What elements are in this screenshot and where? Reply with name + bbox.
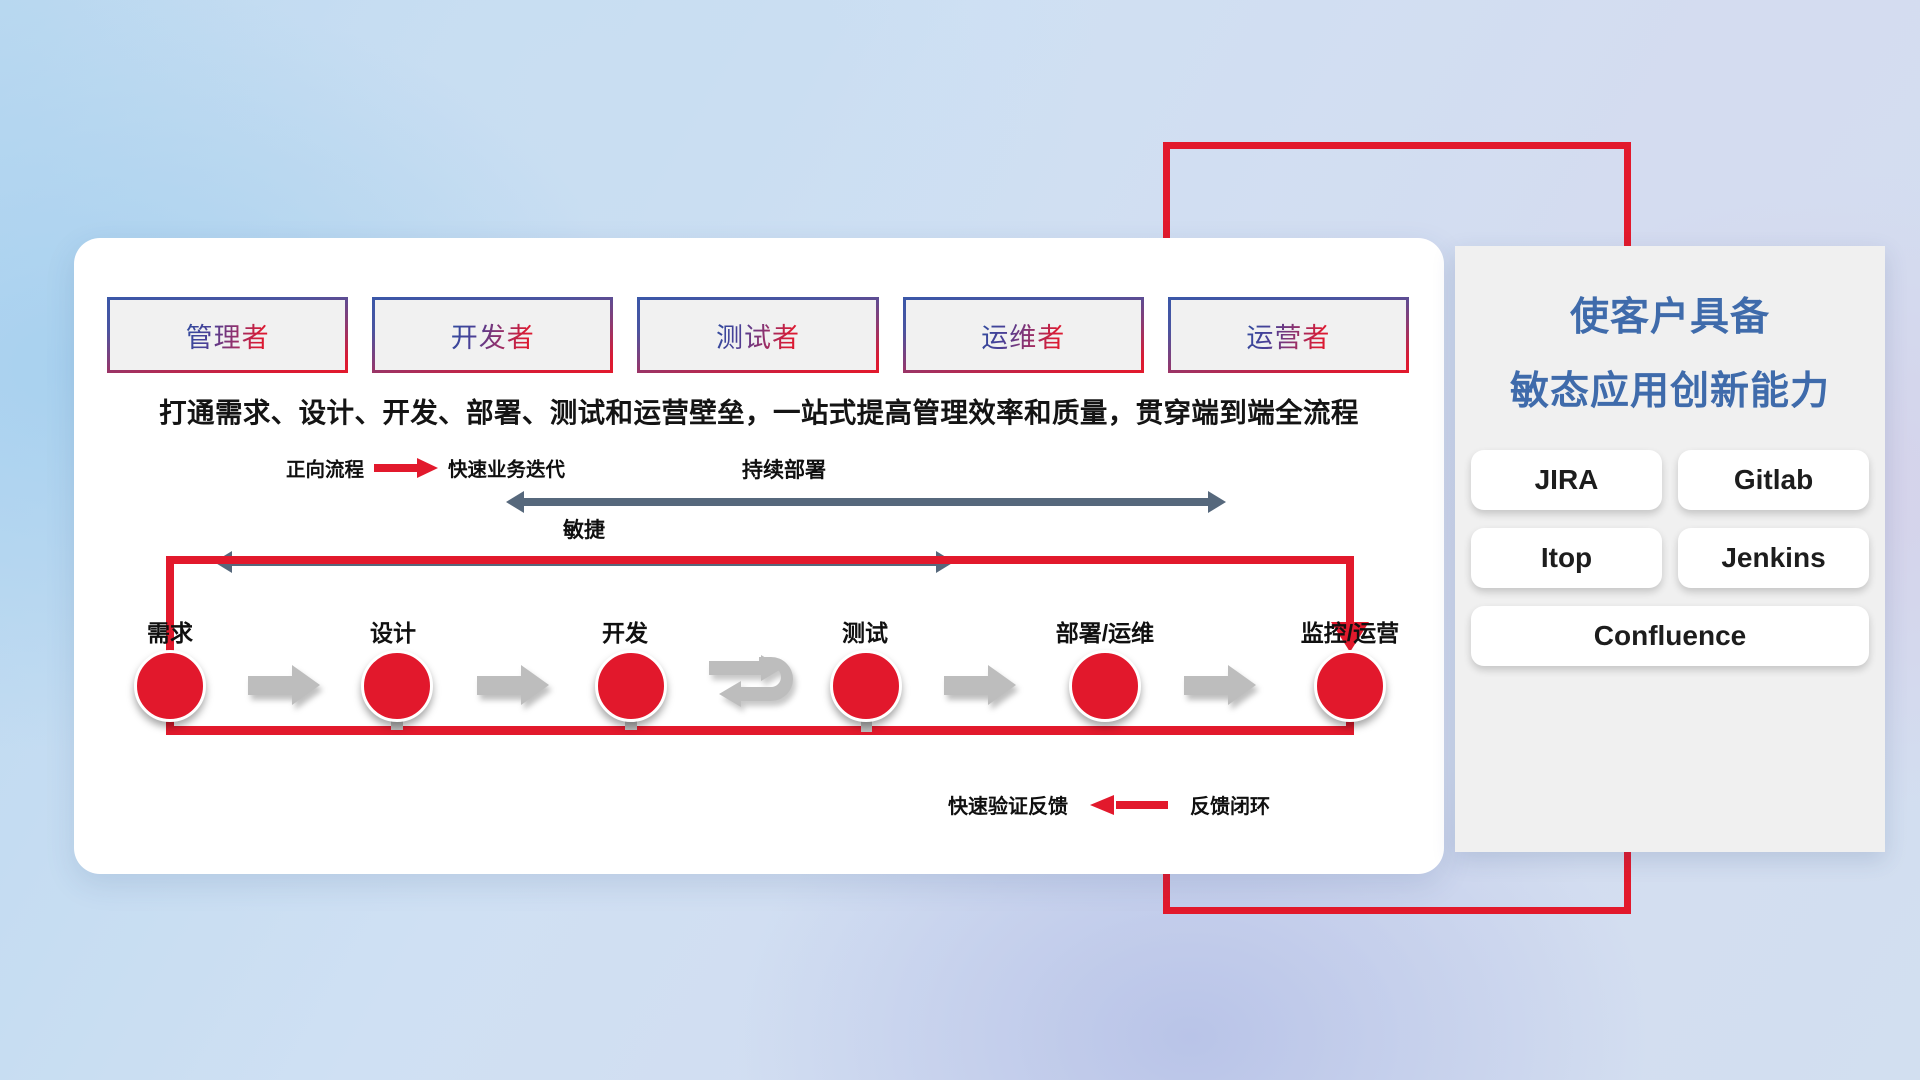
role-label: 运维者 bbox=[981, 316, 1065, 355]
stage-node-design[interactable] bbox=[361, 650, 433, 722]
role-box-business-operator[interactable]: 运营者 bbox=[1171, 300, 1406, 370]
feedback-legend: 快速验证反馈 反馈闭环 bbox=[948, 790, 1270, 819]
tool-chip-jenkins[interactable]: Jenkins bbox=[1678, 528, 1869, 588]
stage-node-develop[interactable] bbox=[595, 650, 667, 722]
feedback-left-label: 快速验证反馈 bbox=[948, 790, 1068, 819]
role-box-tester[interactable]: 测试者 bbox=[640, 300, 875, 370]
stage-label-design: 设计 bbox=[328, 614, 458, 648]
forward-flow-legend: 正向流程 快速业务迭代 bbox=[286, 453, 565, 482]
stage-label-develop: 开发 bbox=[560, 614, 690, 648]
stage-label-requirement: 需求 bbox=[100, 614, 240, 648]
flow-arrow-4-icon bbox=[1184, 665, 1256, 705]
role-box-developer[interactable]: 开发者 bbox=[375, 300, 610, 370]
uturn-loop-arrow-icon bbox=[707, 655, 799, 717]
headline-text: 打通需求、设计、开发、部署、测试和运营壁垒，一站式提高管理效率和质量，贯穿端到端… bbox=[74, 390, 1444, 430]
stage-node-deploy-ops[interactable] bbox=[1069, 650, 1141, 722]
feedback-right-label: 反馈闭环 bbox=[1190, 790, 1270, 819]
value-proposition-panel: 使客户具备 敏态应用创新能力 JIRA Gitlab Itop Jenkins … bbox=[1455, 246, 1885, 852]
stage-label-monitor-operate: 监控/运营 bbox=[1255, 614, 1445, 648]
role-label: 测试者 bbox=[716, 316, 800, 355]
tool-chip-gitlab[interactable]: Gitlab bbox=[1678, 450, 1869, 510]
flow-arrow-2-icon bbox=[477, 665, 549, 705]
red-right-arrow-icon bbox=[374, 458, 438, 478]
role-label: 开发者 bbox=[451, 316, 535, 355]
stage-label-test: 测试 bbox=[800, 614, 930, 648]
stage-node-requirement[interactable] bbox=[134, 650, 206, 722]
flow-arrow-3-icon bbox=[944, 665, 1016, 705]
stage-node-monitor-operate[interactable] bbox=[1314, 650, 1386, 722]
stage-node-test[interactable] bbox=[830, 650, 902, 722]
slide-canvas: 管理者 开发者 测试者 运维者 运营者 bbox=[0, 0, 1920, 1080]
tool-chip-confluence[interactable]: Confluence bbox=[1471, 606, 1869, 666]
forward-flow-right-label: 快速业务迭代 bbox=[448, 453, 565, 482]
role-box-tester-inner: 测试者 bbox=[640, 300, 875, 370]
role-box-operations-engineer[interactable]: 运维者 bbox=[906, 300, 1141, 370]
role-label: 管理者 bbox=[186, 316, 270, 355]
role-box-row: 管理者 开发者 测试者 运维者 运营者 bbox=[110, 300, 1406, 370]
feedback-loop-bottom-line bbox=[166, 726, 1354, 735]
tool-chip-list: JIRA Gitlab Itop Jenkins Confluence bbox=[1455, 450, 1885, 666]
role-label: 运营者 bbox=[1246, 316, 1330, 355]
stage-label-deploy-ops: 部署/运维 bbox=[1010, 614, 1200, 648]
role-box-manager-inner: 管理者 bbox=[110, 300, 345, 370]
red-left-arrow-icon bbox=[1090, 795, 1168, 815]
role-box-developer-inner: 开发者 bbox=[375, 300, 610, 370]
forward-flow-left-label: 正向流程 bbox=[286, 453, 364, 482]
panel-title-line-2: 敏态应用创新能力 bbox=[1455, 360, 1885, 416]
tool-chip-itop[interactable]: Itop bbox=[1471, 528, 1662, 588]
flow-arrow-1-icon bbox=[248, 665, 320, 705]
feedback-loop-top-line bbox=[166, 556, 1354, 564]
role-box-manager[interactable]: 管理者 bbox=[110, 300, 345, 370]
span-label-continuous-deployment: 持续部署 bbox=[574, 454, 994, 484]
panel-title-line-1: 使客户具备 bbox=[1455, 286, 1885, 342]
span-label-agile: 敏捷 bbox=[444, 514, 724, 544]
continuous-deployment-double-arrow-icon bbox=[506, 491, 1226, 513]
role-box-operations-engineer-inner: 运维者 bbox=[906, 300, 1141, 370]
role-box-business-operator-inner: 运营者 bbox=[1171, 300, 1406, 370]
tool-chip-jira[interactable]: JIRA bbox=[1471, 450, 1662, 510]
